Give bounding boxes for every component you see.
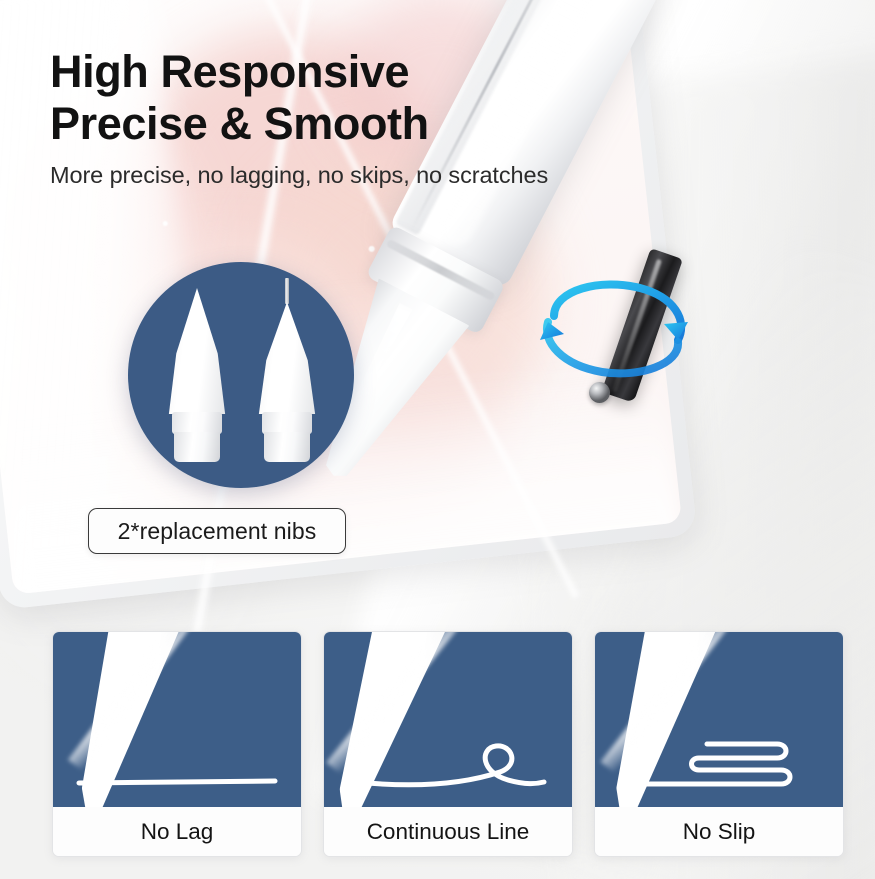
curved-stroke <box>324 632 572 807</box>
product-feature-image: 2*replacement nibs High Responsive Preci… <box>0 0 875 879</box>
zigzag-stroke <box>595 632 843 807</box>
headline-line-2: Precise & Smooth <box>50 98 670 150</box>
replacement-nibs-label: 2*replacement nibs <box>118 518 317 545</box>
stylus-curved-line-icon <box>324 632 572 807</box>
nib-cone <box>250 302 324 414</box>
feature-panel-label: Continuous Line <box>324 807 572 856</box>
headline-subtitle: More precise, no lagging, no skips, no s… <box>50 162 670 189</box>
stylus-straight-line-icon <box>53 632 301 807</box>
nib-cone <box>160 288 234 414</box>
straight-stroke <box>53 632 301 807</box>
feature-panel-label: No Slip <box>595 807 843 856</box>
replacement-nibs-circle <box>128 262 354 488</box>
headline-line-1: High Responsive <box>50 46 670 98</box>
replacement-nibs-badge: 2*replacement nibs <box>88 508 346 554</box>
feature-panel-label: No Lag <box>53 807 301 856</box>
nib-collar <box>172 412 222 434</box>
feature-panel-no-slip: No Slip <box>594 631 844 857</box>
nib-base <box>174 432 220 462</box>
nib-item <box>160 288 234 460</box>
nib-collar <box>262 412 312 434</box>
feature-panel-continuous-line: Continuous Line <box>323 631 573 857</box>
headline-block: High Responsive Precise & Smooth More pr… <box>50 46 670 189</box>
feature-panel-no-lag: No Lag <box>52 631 302 857</box>
stylus-zigzag-line-icon <box>595 632 843 807</box>
feature-panel-row: No Lag Continuous Line <box>52 631 844 855</box>
nib-metal-pin <box>285 278 289 304</box>
nib-base <box>264 432 310 462</box>
nib-item <box>250 278 324 460</box>
stylus-metal-tip-end <box>589 382 610 403</box>
rotation-arrow-icon <box>528 272 698 384</box>
